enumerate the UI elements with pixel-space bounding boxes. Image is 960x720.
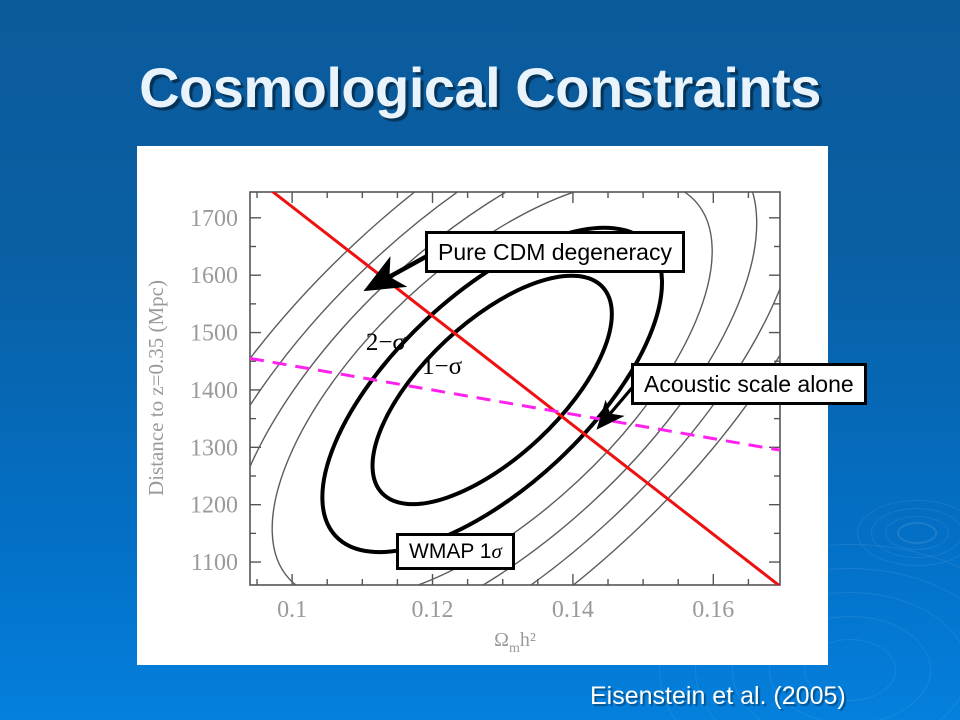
x-axis-label-sub: m xyxy=(509,641,520,656)
citation-text: Eisenstein et al. (2005) xyxy=(590,682,846,711)
x-axis-label-omega: Ω xyxy=(494,629,509,651)
x-tick-label: 0.12 xyxy=(412,597,454,623)
y-tick-label: 1700 xyxy=(190,206,238,232)
callout-wmap-1sigma: WMAP 1σ xyxy=(396,533,515,570)
y-axis-label: Distance to z=0.35 (Mpc) xyxy=(144,280,168,496)
x-axis-label: Ωmh² xyxy=(494,629,536,656)
figure-panel: 0.10.120.140.16 110012001300140015001600… xyxy=(137,146,828,665)
y-tick-label: 1600 xyxy=(190,263,238,289)
x-axis-tick-labels: 0.10.120.140.16 xyxy=(277,597,734,623)
y-tick-label: 1400 xyxy=(190,378,238,404)
ripple-decoration-small xyxy=(862,498,960,568)
callout-acoustic-text: Acoustic scale alone xyxy=(644,371,854,398)
callout-wmap-sigma: σ xyxy=(491,539,501,564)
y-tick-label: 1200 xyxy=(190,493,238,519)
slide: Cosmological Constraints 0.10.120.140.16… xyxy=(0,0,960,720)
x-axis-label-tail: h² xyxy=(520,629,536,651)
y-axis-tick-labels: 1100120013001400150016001700 xyxy=(190,206,238,576)
x-tick-label: 0.1 xyxy=(277,597,307,623)
x-tick-label: 0.16 xyxy=(692,597,734,623)
x-tick-label: 0.14 xyxy=(552,597,594,623)
y-tick-label: 1300 xyxy=(190,435,238,461)
callout-acoustic-scale: Acoustic scale alone xyxy=(631,363,867,405)
callout-pure-cdm-degeneracy: Pure CDM degeneracy xyxy=(425,231,685,273)
page-title: Cosmological Constraints xyxy=(0,55,960,120)
contour-label-2sigma: 2−σ xyxy=(366,329,407,356)
y-tick-label: 1500 xyxy=(190,321,238,347)
cosmology-contour-plot: 0.10.120.140.16 110012001300140015001600… xyxy=(137,146,828,665)
callout-wmap-text: WMAP 1 xyxy=(409,540,491,564)
callout-pure-cdm-text: Pure CDM degeneracy xyxy=(438,239,672,266)
y-tick-label: 1100 xyxy=(191,550,238,576)
contour-label-1sigma: 1−σ xyxy=(422,353,463,380)
